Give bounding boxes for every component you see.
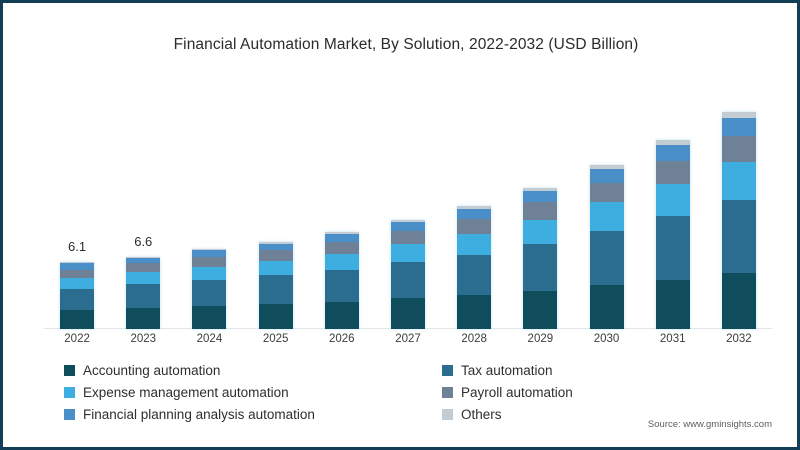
- bar-group: 6.1: [44, 94, 110, 329]
- bar-segment: [126, 263, 160, 272]
- bar-segment: [60, 270, 94, 278]
- bar-segment: [457, 234, 491, 255]
- stacked-bar[interactable]: [325, 232, 359, 329]
- bar-segment: [325, 302, 359, 329]
- legend-label: Tax automation: [461, 363, 553, 378]
- chart-frame: Financial Automation Market, By Solution…: [0, 0, 800, 450]
- stacked-bar[interactable]: [523, 188, 557, 329]
- bar-group: [640, 94, 706, 329]
- bar-value-label: 6.1: [68, 239, 86, 254]
- bar-segment: [391, 262, 425, 298]
- bar-segment: [126, 272, 160, 284]
- x-axis-tick-2032: 2032: [706, 333, 772, 345]
- bar-segment: [259, 261, 293, 275]
- x-axis-tick-2028: 2028: [441, 333, 507, 345]
- bar-segment: [391, 222, 425, 231]
- legend-label: Accounting automation: [83, 363, 220, 378]
- bar-segment: [259, 250, 293, 261]
- legend-item[interactable]: Tax automation: [442, 359, 702, 381]
- legend-item[interactable]: Financial planning analysis automation: [64, 403, 442, 425]
- bar-segment: [60, 310, 94, 329]
- bar-segment: [523, 291, 557, 329]
- legend-item[interactable]: Accounting automation: [64, 359, 442, 381]
- bar-segment: [126, 308, 160, 329]
- stacked-bar[interactable]: [391, 220, 425, 329]
- bar-segment: [722, 118, 756, 135]
- bar-segment: [457, 209, 491, 219]
- stacked-bar[interactable]: [126, 257, 160, 329]
- bar-segment: [391, 298, 425, 329]
- chart-canvas: Financial Automation Market, By Solution…: [6, 6, 794, 444]
- bar-segment: [656, 161, 690, 184]
- bar-segment: [192, 280, 226, 306]
- bar-segment: [192, 267, 226, 280]
- bar-segment: [192, 306, 226, 329]
- bar-segment: [722, 200, 756, 273]
- x-axis-tick-2024: 2024: [176, 333, 242, 345]
- bar-value-label: 6.6: [134, 234, 152, 249]
- stacked-bar[interactable]: [259, 242, 293, 329]
- x-axis-tick-2027: 2027: [375, 333, 441, 345]
- stacked-bar[interactable]: [192, 249, 226, 329]
- bar-segment: [325, 254, 359, 270]
- bar-segment: [722, 136, 756, 162]
- legend-label: Others: [461, 407, 502, 422]
- bar-segment: [325, 270, 359, 302]
- bar-segment: [391, 244, 425, 263]
- legend-label: Expense management automation: [83, 385, 289, 400]
- x-axis-tick-2031: 2031: [640, 333, 706, 345]
- x-axis-tick-2030: 2030: [573, 333, 639, 345]
- bar-group: 6.6: [110, 94, 176, 329]
- bar-group: [441, 94, 507, 329]
- legend-swatch-icon: [442, 387, 453, 398]
- plot-area: 6.16.6: [44, 94, 772, 329]
- legend-item[interactable]: Payroll automation: [442, 381, 702, 403]
- legend-swatch-icon: [64, 409, 75, 420]
- bar-group: [243, 94, 309, 329]
- stacked-bar[interactable]: [457, 206, 491, 330]
- bar-segment: [523, 220, 557, 244]
- chart-legend: Accounting automationTax automationExpen…: [64, 359, 704, 425]
- legend-swatch-icon: [64, 365, 75, 376]
- bar-segment: [259, 275, 293, 303]
- legend-row: Expense management automationPayroll aut…: [64, 381, 704, 403]
- stacked-bar[interactable]: [590, 165, 624, 329]
- legend-label: Payroll automation: [461, 385, 573, 400]
- bar-group: [573, 94, 639, 329]
- bar-segment: [722, 162, 756, 200]
- bar-segment: [391, 231, 425, 244]
- legend-swatch-icon: [64, 387, 75, 398]
- bar-segment: [590, 183, 624, 203]
- bar-segment: [523, 191, 557, 202]
- bar-segment: [325, 242, 359, 254]
- x-axis-tick-2022: 2022: [44, 333, 110, 345]
- legend-row: Financial planning analysis automationOt…: [64, 403, 704, 425]
- bar-segment: [722, 273, 756, 329]
- bar-segment: [457, 295, 491, 329]
- bar-segment: [60, 278, 94, 289]
- bar-segment: [523, 202, 557, 219]
- bar-segment: [656, 145, 690, 160]
- bar-segment: [656, 216, 690, 279]
- bar-group: [706, 94, 772, 329]
- bar-segment: [590, 231, 624, 286]
- bar-segment: [60, 289, 94, 311]
- legend-label: Financial planning analysis automation: [83, 407, 315, 422]
- bar-segment: [259, 304, 293, 329]
- legend-swatch-icon: [442, 409, 453, 420]
- legend-row: Accounting automationTax automation: [64, 359, 704, 381]
- bar-segment: [656, 184, 690, 217]
- bar-group: [507, 94, 573, 329]
- bar-segment: [590, 202, 624, 230]
- legend-item[interactable]: Expense management automation: [64, 381, 442, 403]
- stacked-bar[interactable]: [722, 112, 756, 330]
- page-title: Financial Automation Market, By Solution…: [6, 36, 800, 54]
- x-axis-tick-labels: 2022202320242025202620272028202920302031…: [44, 333, 772, 353]
- bar-segment: [590, 285, 624, 329]
- bar-segment: [523, 244, 557, 291]
- source-attribution: Source: www.gminsights.com: [648, 419, 772, 430]
- bar-group: [176, 94, 242, 329]
- x-axis-tick-2029: 2029: [507, 333, 573, 345]
- x-axis-tick-2026: 2026: [309, 333, 375, 345]
- x-axis-tick-2025: 2025: [243, 333, 309, 345]
- bar-segment: [192, 257, 226, 267]
- bar-group: [309, 94, 375, 329]
- stacked-bar[interactable]: [60, 262, 94, 329]
- bar-segment: [126, 284, 160, 308]
- x-axis-tick-2023: 2023: [110, 333, 176, 345]
- bar-segment: [457, 219, 491, 234]
- bar-segment: [325, 234, 359, 242]
- bar-segment: [590, 169, 624, 182]
- bar-segment: [656, 280, 690, 329]
- bar-segment: [457, 255, 491, 295]
- stacked-bar[interactable]: [656, 140, 690, 329]
- legend-swatch-icon: [442, 365, 453, 376]
- bar-group: [375, 94, 441, 329]
